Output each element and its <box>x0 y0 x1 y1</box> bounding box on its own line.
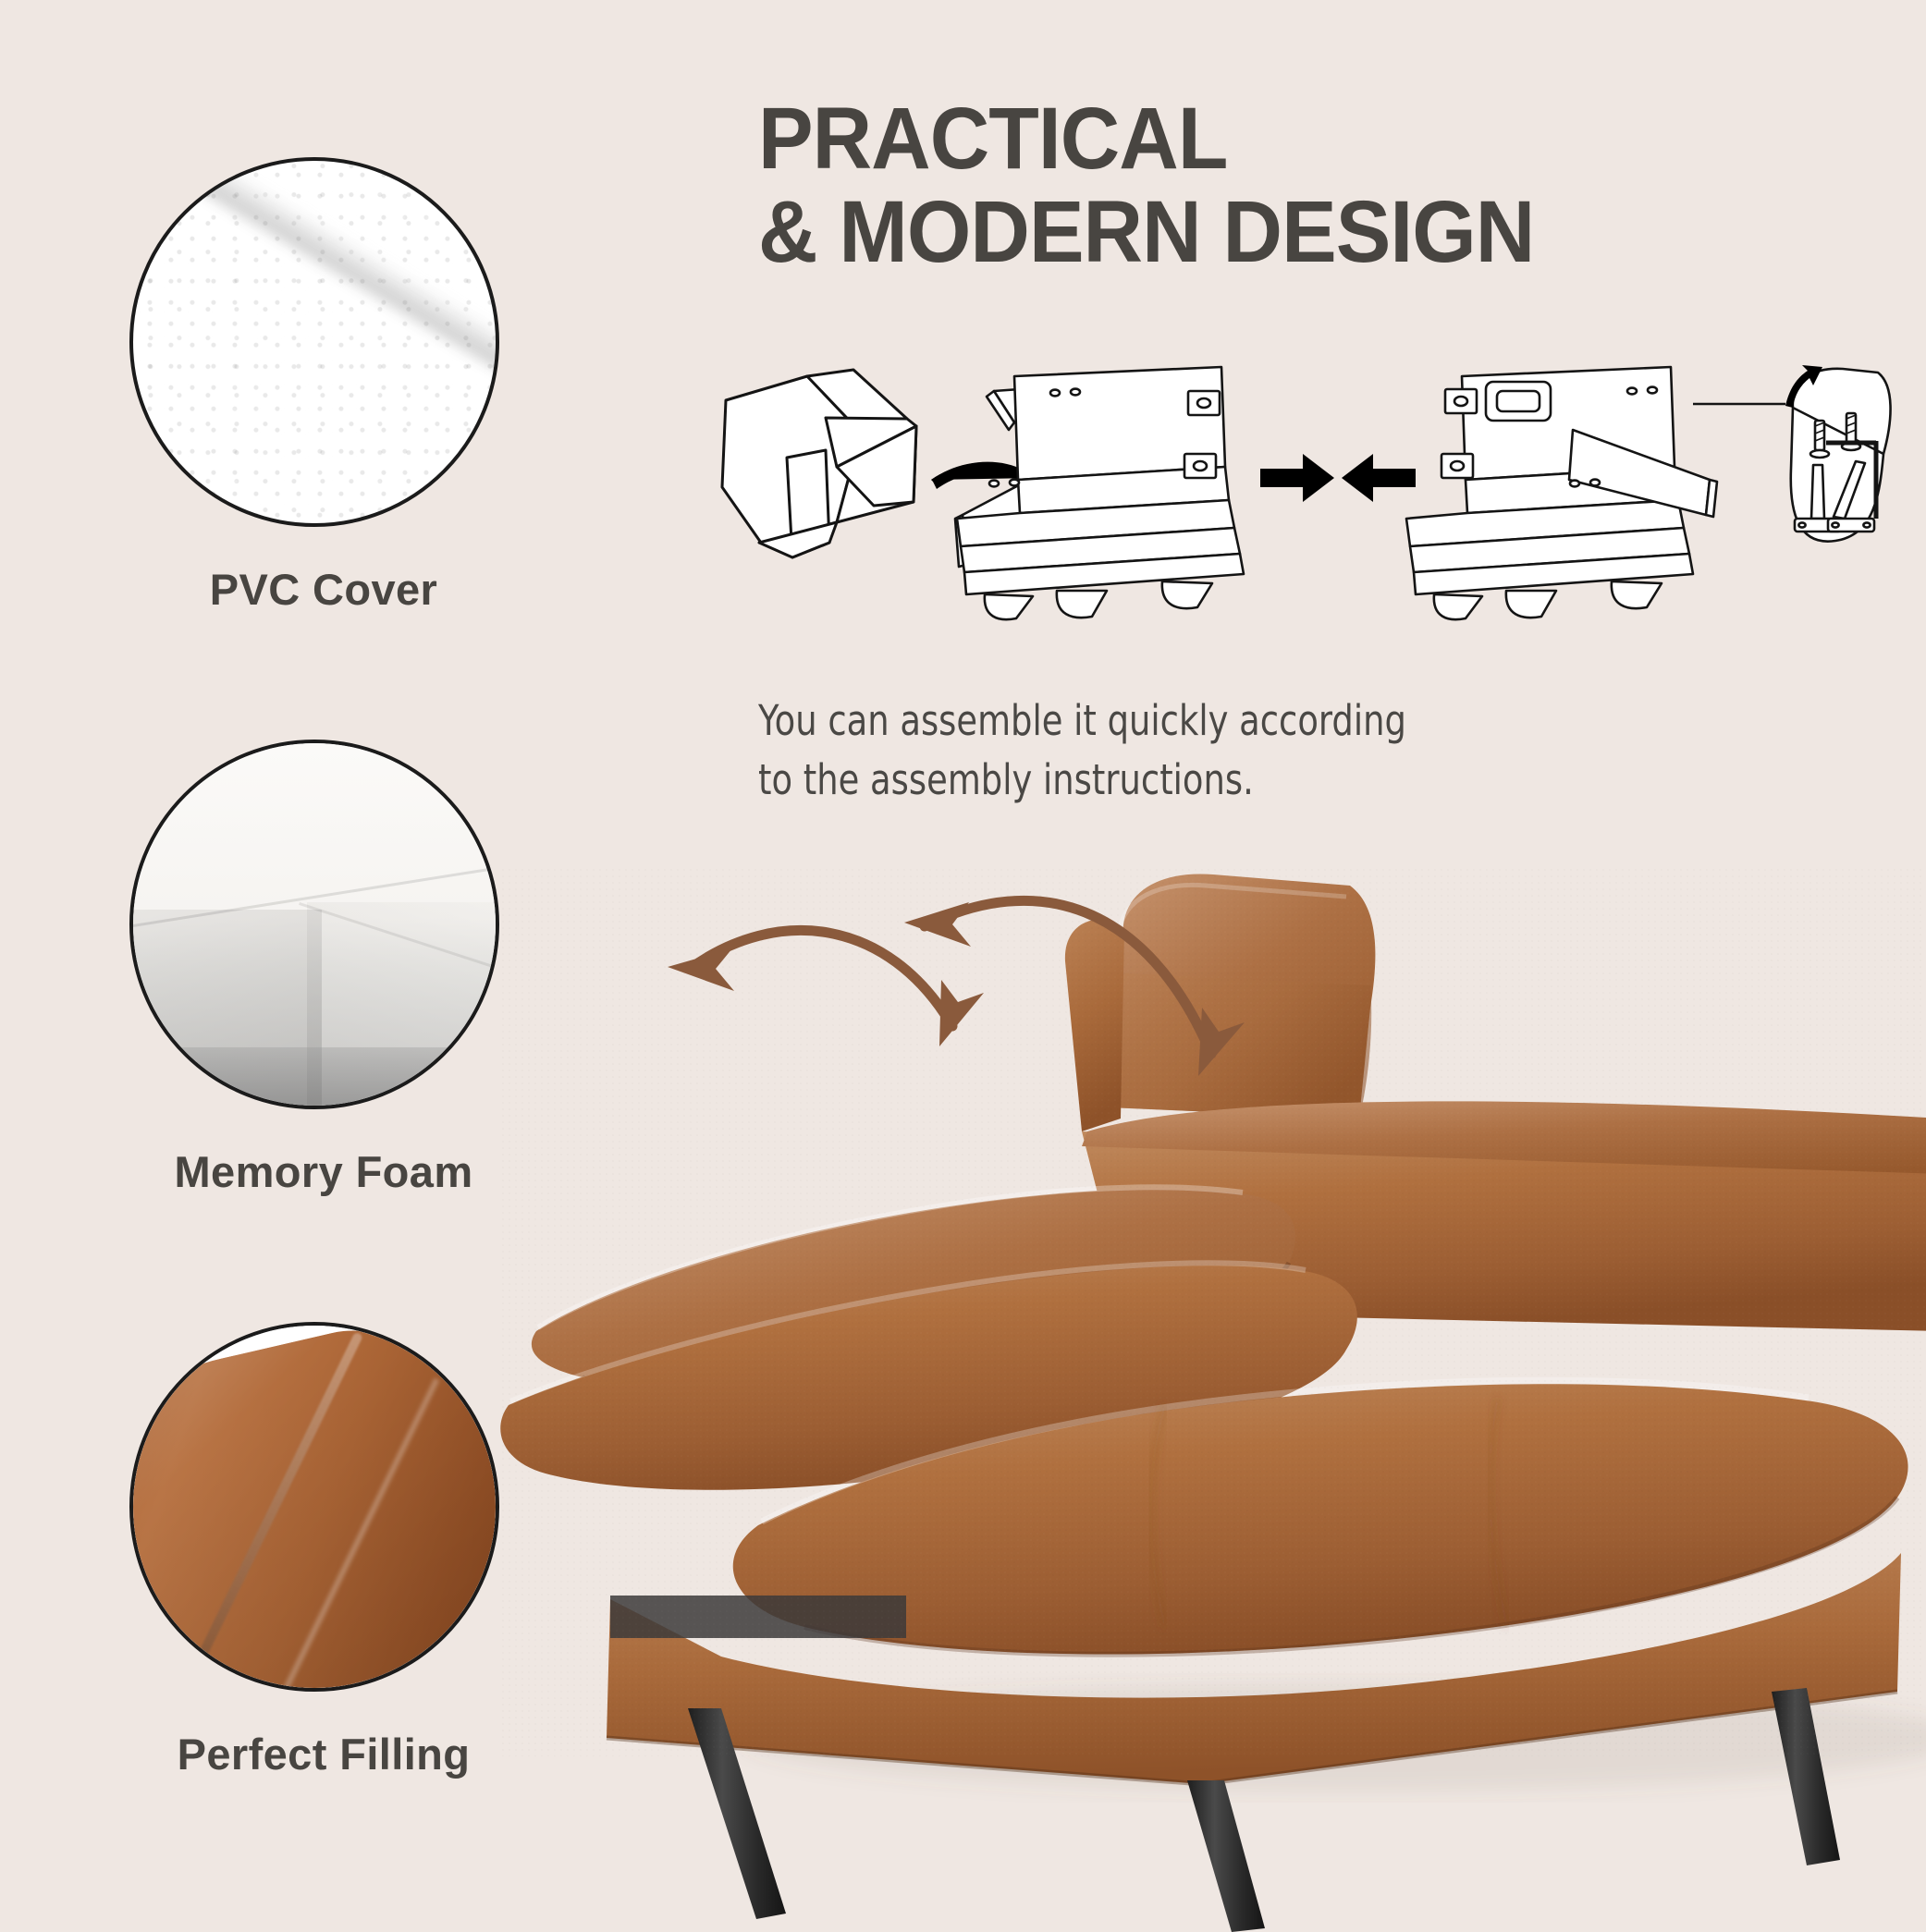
feature-memory-foam: Memory Foam <box>129 740 518 1197</box>
feature-image-memory-foam <box>129 740 499 1109</box>
panel-icon <box>1406 367 1717 619</box>
panel-icon <box>955 367 1244 619</box>
foam-floor-shadow <box>133 1047 496 1106</box>
memory-foam-block <box>133 743 496 1106</box>
recline-arrowhead-2a <box>904 902 971 947</box>
infographic-canvas: PRACTICAL & MODERN DESIGN <box>0 0 1926 1926</box>
feature-label-perfect-filling: Perfect Filling <box>129 1729 518 1779</box>
recline-arrow-path-2 <box>925 900 1211 1054</box>
headline-line-1: PRACTICAL <box>758 92 1740 186</box>
assembly-description-line-1: You can assemble it quickly according <box>758 691 1441 751</box>
hardware-bag-icon <box>1785 365 1891 542</box>
recline-arrowhead-2b <box>1198 1008 1245 1076</box>
feature-pvc-cover: PVC Cover <box>129 157 518 615</box>
feature-image-pvc-cover <box>129 157 499 527</box>
assembly-description: You can assemble it quickly according to… <box>758 691 1441 810</box>
recline-arrowhead-1b <box>939 980 984 1046</box>
feature-perfect-filling: Perfect Filling <box>129 1322 518 1779</box>
assembly-diagram <box>689 365 1900 642</box>
recline-motion-arrows <box>647 878 1350 1119</box>
feature-label-memory-foam: Memory Foam <box>129 1146 518 1197</box>
sofa-leg <box>1187 1780 1265 1932</box>
recline-arrowhead-1a <box>668 948 734 991</box>
headline-line-2: & MODERN DESIGN <box>758 186 1740 279</box>
faux-leather-texture <box>133 161 496 523</box>
feature-image-perfect-filling <box>129 1322 499 1692</box>
assembly-description-line-2: to the assembly instructions. <box>758 751 1441 810</box>
cushion-corner <box>133 1326 496 1688</box>
double-arrow-icon <box>1260 454 1416 502</box>
page-title: PRACTICAL & MODERN DESIGN <box>758 92 1740 278</box>
feature-label-pvc-cover: PVC Cover <box>129 564 518 615</box>
box-icon <box>722 370 916 557</box>
recline-arrow-path-1 <box>690 930 952 1026</box>
